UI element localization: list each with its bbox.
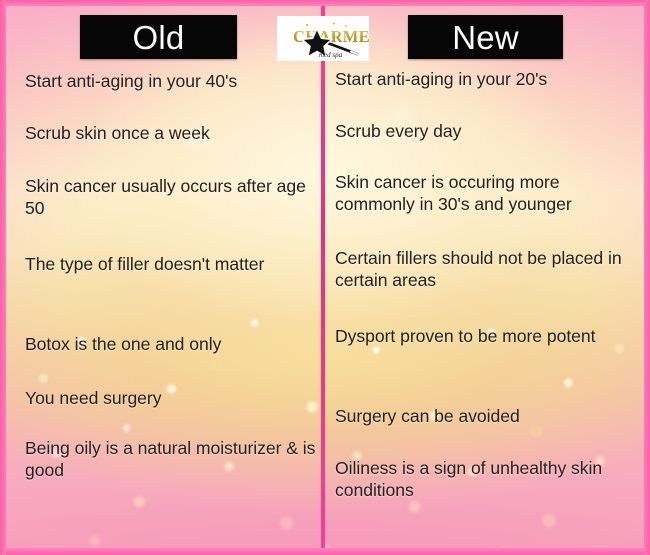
brand-logo: CHARMED med spa: [277, 16, 369, 61]
list-item: Oiliness is a sign of unhealthy skin con…: [335, 458, 635, 501]
infographic-canvas: Old New CHAR: [0, 0, 650, 555]
list-item: The type of filler doesn't matter: [25, 254, 317, 276]
list-item: Scrub skin once a week: [25, 123, 317, 145]
column-header-new-label: New: [452, 21, 519, 54]
list-item: Scrub every day: [335, 121, 635, 143]
list-item: Surgery can be avoided: [335, 406, 635, 428]
frame-border-left: [0, 0, 6, 555]
list-item: Start anti-aging in your 40's: [25, 71, 317, 93]
column-header-old-label: Old: [133, 21, 185, 54]
list-item: Dysport proven to be more potent: [335, 326, 635, 348]
list-item: Skin cancer usually occurs after age 50: [25, 176, 317, 219]
brand-tagline: med spa: [319, 51, 343, 59]
list-item: Being oily is a natural moisturizer & is…: [25, 438, 317, 481]
column-header-new: New: [408, 15, 563, 59]
list-item: Start anti-aging in your 20's: [335, 69, 635, 91]
frame-border-bottom: [0, 548, 650, 555]
frame-border-right: [644, 0, 650, 555]
list-item: Botox is the one and only: [25, 334, 317, 356]
svg-text:med spa: med spa: [319, 51, 343, 59]
list-item: You need surgery: [25, 388, 317, 410]
column-divider: [321, 6, 325, 548]
column-header-old: Old: [80, 15, 237, 59]
frame-border-top: [0, 0, 650, 6]
list-item: Skin cancer is occuring more commonly in…: [335, 172, 635, 215]
list-item: Certain fillers should not be placed in …: [335, 248, 635, 291]
bokeh-glow-upper: [5, 66, 645, 246]
